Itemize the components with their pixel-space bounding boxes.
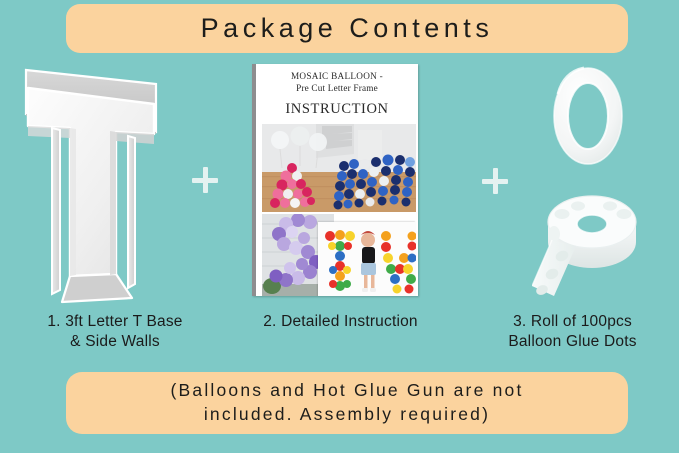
instruction-booklet: MOSAIC BALLOON - Pre Cut Letter Frame IN… xyxy=(252,64,418,296)
plus-separator-2 xyxy=(482,168,508,194)
disclaimer-banner: (Balloons and Hot Glue Gun are not inclu… xyxy=(66,372,628,434)
title-banner: Package Contents xyxy=(66,4,628,53)
package-contents-infographic: Package Contents xyxy=(0,0,679,453)
page-title: Package Contents xyxy=(201,15,494,42)
caption-item-3-line-1: 3. Roll of 100pcs xyxy=(466,312,679,332)
booklet-subtitle-line-2: Pre Cut Letter Frame xyxy=(262,83,412,95)
photo-top-art xyxy=(262,124,416,212)
booklet-subtitle-line-1: MOSAIC BALLOON - xyxy=(262,71,412,83)
photo-pink-and-blue-balloon-letters xyxy=(262,124,416,212)
caption-item-1-line-2: & Side Walls xyxy=(0,332,230,352)
booklet-photo-collage xyxy=(262,124,416,296)
disclaimer-line-1: (Balloons and Hot Glue Gun are not xyxy=(170,379,523,403)
photo-bottom-right-art xyxy=(318,222,416,296)
caption-item-1: 1. 3ft Letter T Base & Side Walls xyxy=(0,312,230,352)
glue-dot-roll-upright xyxy=(554,68,622,164)
letter-t-balloon-frame xyxy=(4,62,180,310)
glue-dot-roll-flat xyxy=(532,196,636,297)
caption-item-1-line-1: 1. 3ft Letter T Base xyxy=(0,312,230,332)
caption-item-2-line-1: 2. Detailed Instruction xyxy=(238,312,443,332)
disclaimer-text: (Balloons and Hot Glue Gun are not inclu… xyxy=(162,379,531,426)
photo-rainbow-balloon-letters-two xyxy=(318,222,416,296)
glue-dot-rolls xyxy=(532,64,679,304)
disclaimer-line-2: included. Assembly required) xyxy=(170,403,523,427)
booklet-title: INSTRUCTION xyxy=(262,101,412,118)
plus-separator-1 xyxy=(192,167,218,193)
booklet-heading: MOSAIC BALLOON - Pre Cut Letter Frame IN… xyxy=(262,71,412,118)
glue-rolls-illustration xyxy=(532,64,679,304)
caption-item-3: 3. Roll of 100pcs Balloon Glue Dots xyxy=(466,312,679,352)
letter-t-illustration xyxy=(4,62,180,310)
caption-item-3-line-2: Balloon Glue Dots xyxy=(466,332,679,352)
caption-item-2: 2. Detailed Instruction xyxy=(238,312,443,332)
